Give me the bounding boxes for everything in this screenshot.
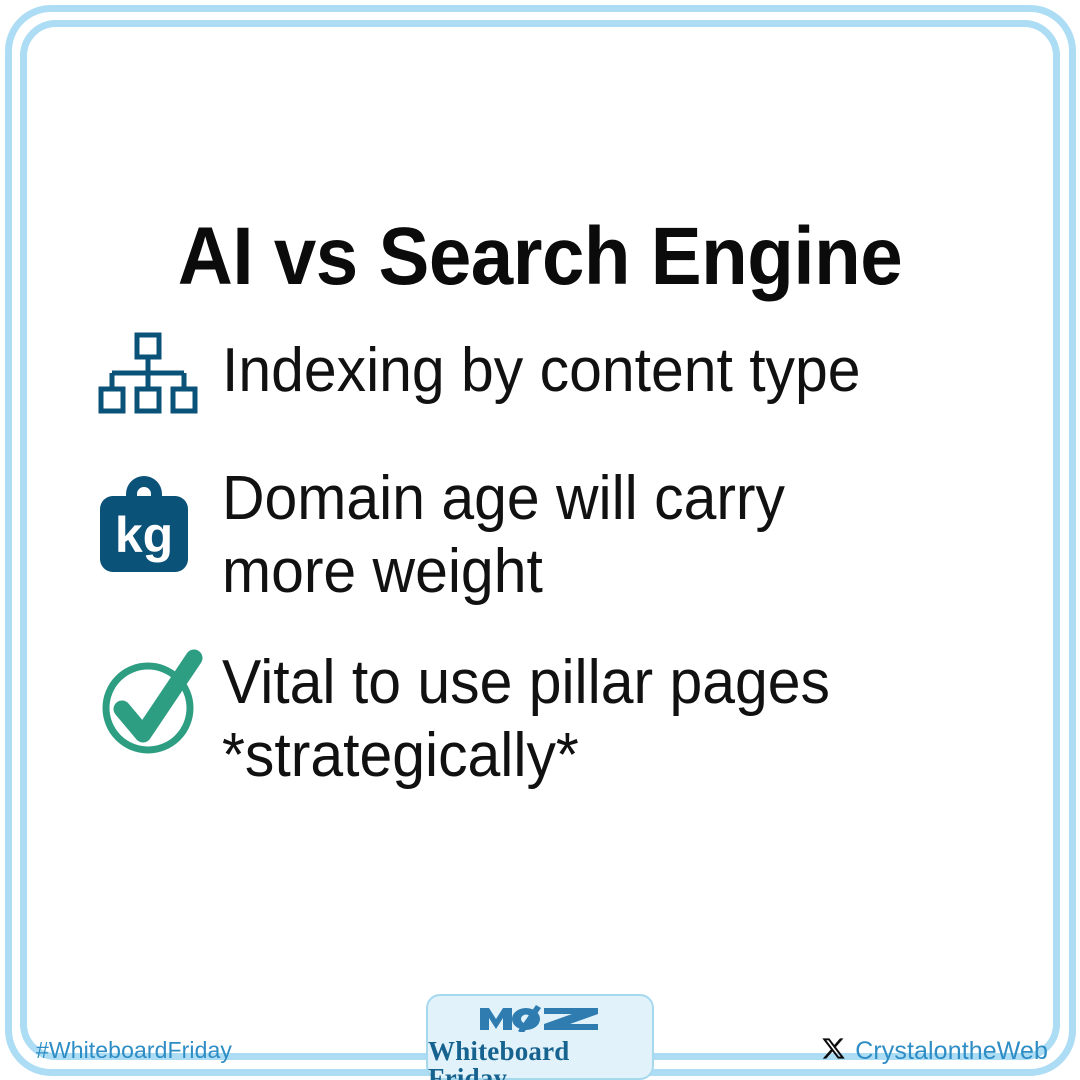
x-twitter-icon [821,1036,846,1066]
list-item-label: Indexing by content type [222,330,957,407]
list-item: kg Domain age will carry more weight [96,458,996,608]
sitemap-hierarchy-icon [96,330,222,416]
list-item-label: Vital to use pillar pages *strategically… [222,642,957,792]
social-handle[interactable]: CrystalontheWeb [821,1036,1048,1066]
badge-series-label: Whiteboard Friday [428,1038,652,1080]
bullet-list: Indexing by content type kg Domain age w… [96,330,996,817]
circle-checkmark-icon [96,642,222,756]
svg-text:kg: kg [115,507,173,563]
list-item: Vital to use pillar pages *strategically… [96,642,996,792]
list-item: Indexing by content type [96,330,996,416]
moz-whiteboard-friday-badge[interactable]: Whiteboard Friday [426,994,654,1080]
hashtag-label: #WhiteboardFriday [36,1037,232,1064]
page-title: AI vs Search Engine [38,216,1042,298]
kilogram-weight-bag-icon: kg [96,458,222,576]
slide-canvas: AI vs Search Engine [0,0,1080,1080]
social-handle-label: CrystalontheWeb [855,1037,1048,1066]
moz-logo-icon [478,1002,602,1037]
list-item-label: Domain age will carry more weight [222,458,957,608]
